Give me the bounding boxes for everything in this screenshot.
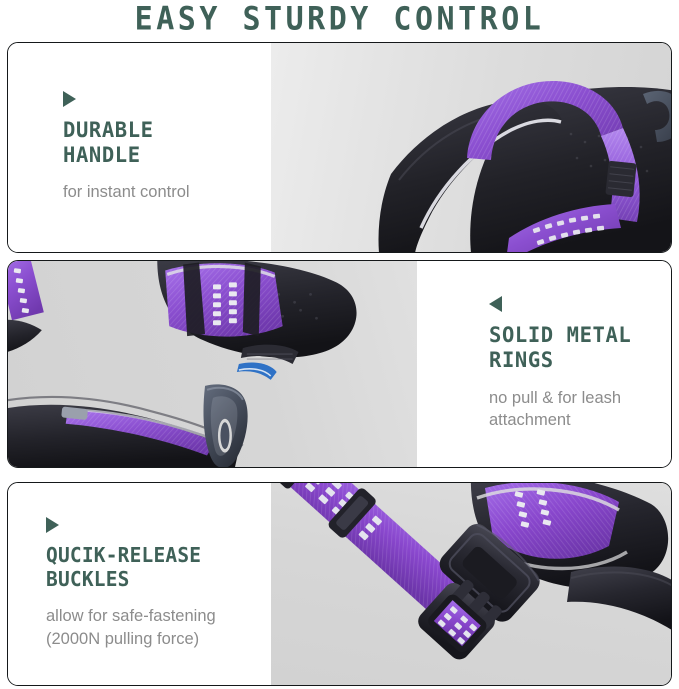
product-photo-quick-release-buckles: [271, 483, 671, 685]
page-title: EASY STURDY CONTROL: [0, 0, 679, 40]
harness-handle-illustration: [271, 43, 671, 252]
feature-text-solid-metal-rings: SOLID METAL RINGS no pull & for leash at…: [417, 261, 671, 467]
feature-heading: DURABLE HANDLE: [63, 118, 271, 168]
feature-heading: QUCIK-RELEASE BUCKLES: [46, 544, 271, 591]
feature-text-durable-handle: DURABLE HANDLE for instant control: [8, 43, 271, 252]
feature-heading: SOLID METAL RINGS: [489, 323, 671, 373]
feature-panel-durable-handle: DURABLE HANDLE for instant control: [7, 42, 672, 253]
feature-subtitle: for instant control: [63, 181, 271, 204]
triangle-left-icon: [489, 296, 502, 312]
feature-panel-solid-metal-rings: SOLID METAL RINGS no pull & for leash at…: [7, 260, 672, 468]
triangle-right-icon: [46, 517, 59, 533]
feature-subtitle: allow for safe-fastening (2000N pulling …: [46, 605, 271, 651]
feature-text-quick-release-buckles: QUCIK-RELEASE BUCKLES allow for safe-fas…: [8, 483, 271, 685]
product-photo-solid-metal-rings: [8, 261, 417, 467]
harness-dring-illustration: [8, 261, 417, 467]
harness-buckle-illustration: [271, 483, 671, 685]
feature-panel-quick-release-buckles: QUCIK-RELEASE BUCKLES allow for safe-fas…: [7, 482, 672, 686]
product-photo-durable-handle: [271, 43, 671, 252]
feature-subtitle: no pull & for leash attachment: [489, 387, 671, 433]
triangle-right-icon: [63, 91, 76, 107]
